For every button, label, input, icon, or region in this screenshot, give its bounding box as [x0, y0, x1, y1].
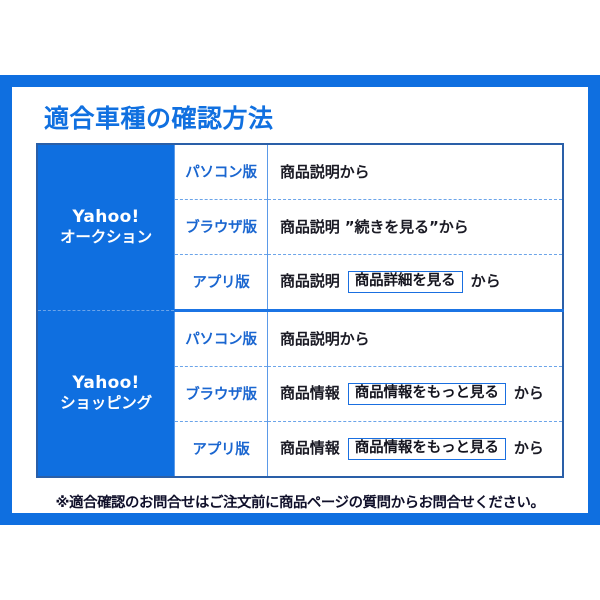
instruction-cell: 商品説明から	[268, 144, 564, 200]
table-row: Yahoo! オークション パソコン版 商品説明から	[37, 144, 563, 200]
frame-inner-white: 適合車種の確認方法 Yahoo! オークション パソコン版 商品説明から	[12, 87, 588, 513]
banner-page: 適合車種の確認方法 Yahoo! オークション パソコン版 商品説明から	[0, 0, 600, 600]
instruction-cell: 商品説明 商品詳細を見る から	[268, 254, 564, 310]
instruction-text-after: から	[471, 272, 501, 290]
ui-chip-button[interactable]: 商品詳細を見る	[348, 271, 463, 293]
footnote-text: ※適合確認のお問合せはご注文前に商品ページの質問からお問合せください。	[30, 491, 570, 512]
instruction-text-before: 商品説明から	[280, 163, 369, 181]
compatibility-table: Yahoo! オークション パソコン版 商品説明から ブラウザ版 商品説明 ”続…	[36, 143, 564, 478]
platform-label-browser: ブラウザ版	[175, 199, 268, 254]
instruction-cell: 商品情報 商品情報をもっと見る から	[268, 366, 564, 421]
instruction-text-after: から	[514, 384, 544, 402]
platform-label-pc: パソコン版	[175, 310, 268, 366]
instruction-cell: 商品説明から	[268, 310, 564, 366]
brand-name-top: Yahoo!	[38, 207, 174, 228]
ui-chip-button[interactable]: 商品情報をもっと見る	[348, 383, 506, 405]
instruction-text-before: 商品説明 ”続きを見る”から	[280, 218, 469, 236]
platform-label-browser: ブラウザ版	[175, 366, 268, 421]
blue-frame: 適合車種の確認方法 Yahoo! オークション パソコン版 商品説明から	[0, 75, 600, 525]
instruction-cell: 商品説明 ”続きを見る”から	[268, 199, 564, 254]
instruction-text-before: 商品情報	[280, 439, 340, 457]
brand-name-sub: オークション	[38, 228, 174, 247]
brand-cell-shopping: Yahoo! ショッピング	[37, 310, 175, 477]
platform-label-app: アプリ版	[175, 421, 268, 477]
platform-label-pc: パソコン版	[175, 144, 268, 200]
table-row: Yahoo! ショッピング パソコン版 商品説明から	[37, 310, 563, 366]
brand-name-sub: ショッピング	[38, 394, 174, 413]
brand-cell-auction: Yahoo! オークション	[37, 144, 175, 311]
page-title: 適合車種の確認方法	[44, 105, 570, 133]
platform-label-app: アプリ版	[175, 254, 268, 310]
instruction-text-before: 商品情報	[280, 384, 340, 402]
ui-chip-button[interactable]: 商品情報をもっと見る	[348, 438, 506, 460]
instruction-text-before: 商品説明から	[280, 330, 369, 348]
instruction-text-after: から	[514, 439, 544, 457]
instruction-cell: 商品情報 商品情報をもっと見る から	[268, 421, 564, 477]
instruction-text-before: 商品説明	[280, 272, 340, 290]
brand-name-top: Yahoo!	[38, 373, 174, 394]
